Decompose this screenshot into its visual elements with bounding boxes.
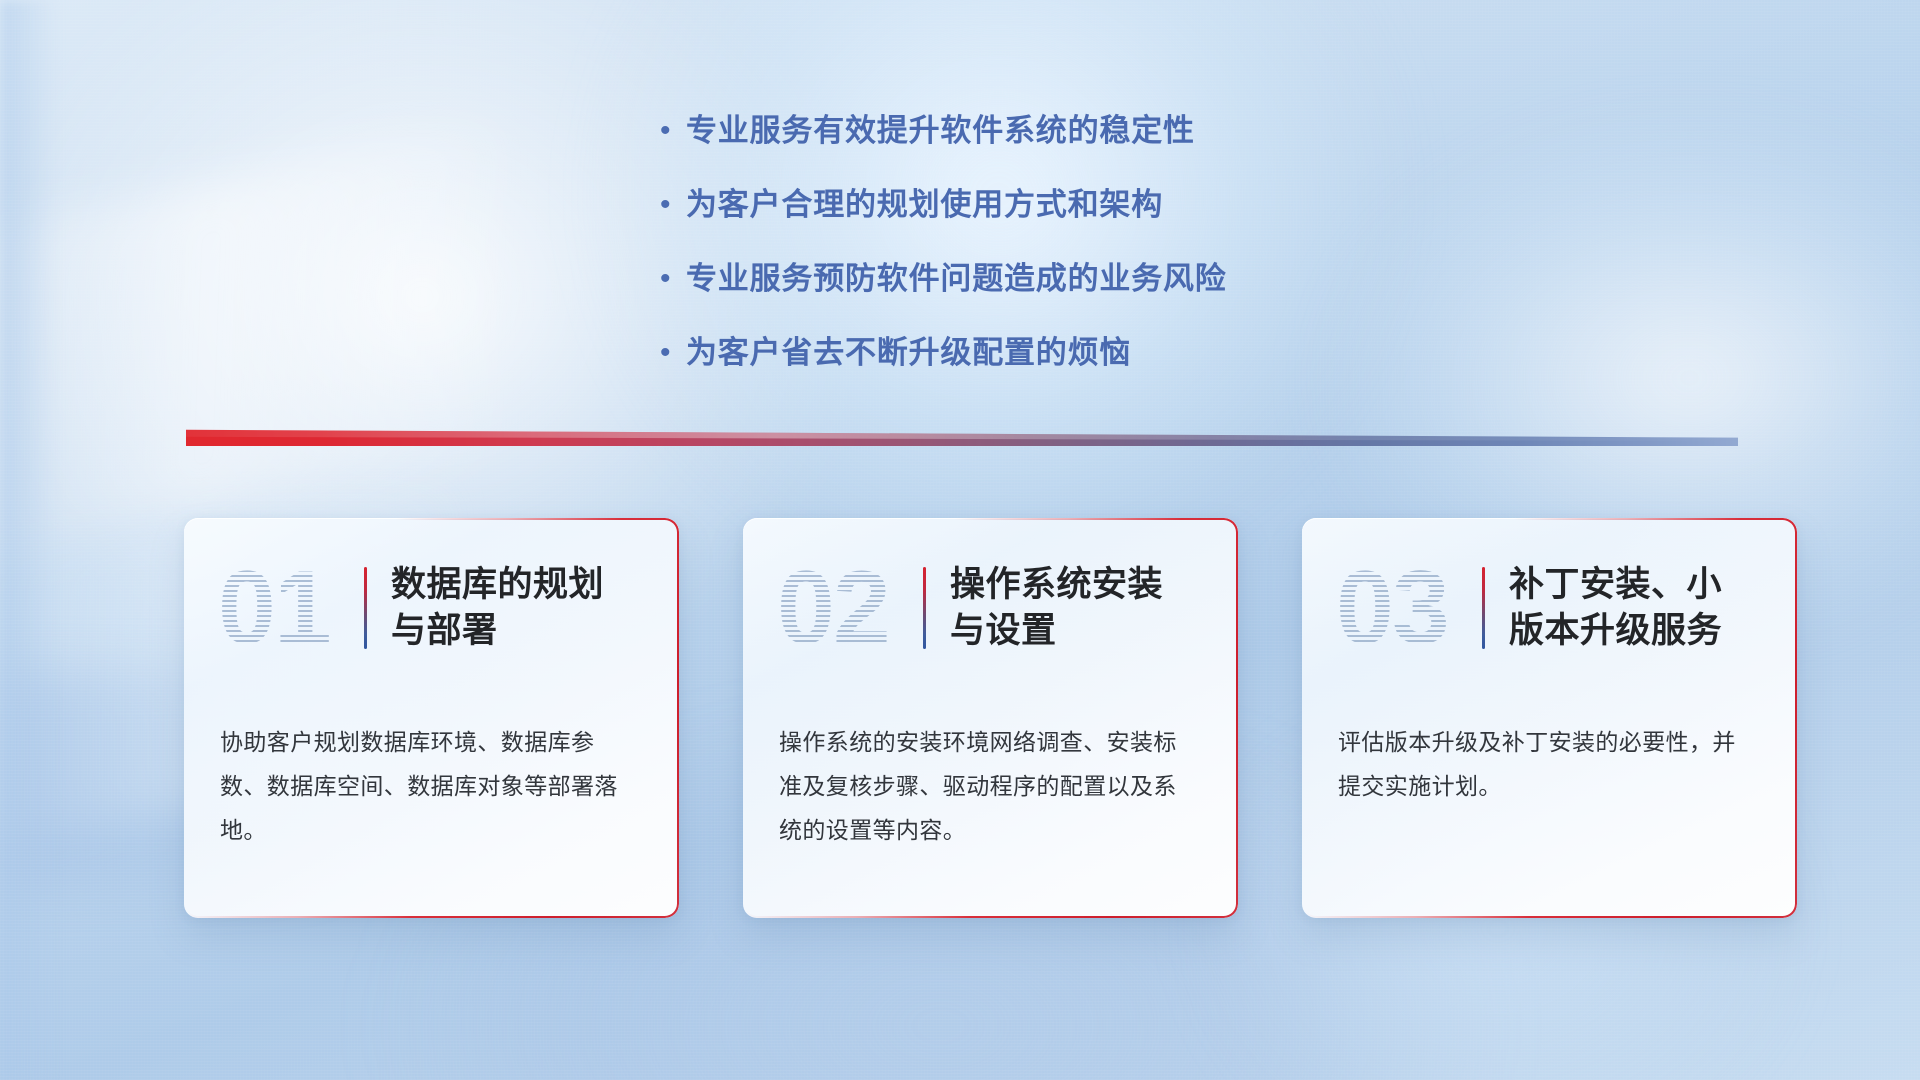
- slide-stage: • 专业服务有效提升软件系统的稳定性 • 为客户合理的规划使用方式和架构 • 专…: [0, 0, 1920, 1080]
- bullet-text: 为客户省去不断升级配置的烦恼: [686, 330, 1131, 376]
- card-number-badge: 03: [1336, 554, 1478, 662]
- card-vertical-divider: [923, 567, 926, 649]
- service-card-02[interactable]: 02 操作系统安装与设置 操作系统的安装环境网络调查、安装标准及复核步骤、驱动程…: [743, 518, 1238, 918]
- card-header: 01 数据库的规划与部署: [184, 518, 679, 664]
- bullet-dot-icon: •: [660, 182, 686, 228]
- card-description: 协助客户规划数据库环境、数据库参数、数据库空间、数据库对象等部署落地。: [184, 664, 679, 852]
- card-content: 02 操作系统安装与设置 操作系统的安装环境网络调查、安装标准及复核步骤、驱动程…: [743, 518, 1238, 918]
- bullet-dot-icon: •: [660, 108, 686, 154]
- card-title: 补丁安装、小版本升级服务: [1509, 562, 1755, 654]
- card-content: 03 补丁安装、小版本升级服务 评估版本升级及补丁安装的必要性，并提交实施计划。: [1302, 518, 1797, 918]
- list-item: • 为客户省去不断升级配置的烦恼: [660, 330, 1420, 376]
- card-header: 03 补丁安装、小版本升级服务: [1302, 518, 1797, 664]
- card-description: 评估版本升级及补丁安装的必要性，并提交实施计划。: [1302, 664, 1797, 808]
- bullet-dot-icon: •: [660, 330, 686, 376]
- bullet-dot-icon: •: [660, 256, 686, 302]
- list-item: • 专业服务有效提升软件系统的稳定性: [660, 108, 1420, 154]
- card-vertical-divider: [364, 567, 367, 649]
- bullet-text: 专业服务预防软件问题造成的业务风险: [686, 256, 1227, 302]
- card-number-badge: 02: [777, 554, 919, 662]
- service-card-03[interactable]: 03 补丁安装、小版本升级服务 评估版本升级及补丁安装的必要性，并提交实施计划。: [1302, 518, 1797, 918]
- list-item: • 专业服务预防软件问题造成的业务风险: [660, 256, 1420, 302]
- list-item: • 为客户合理的规划使用方式和架构: [660, 182, 1420, 228]
- bullet-text: 专业服务有效提升软件系统的稳定性: [686, 108, 1195, 154]
- benefits-bullet-list: • 专业服务有效提升软件系统的稳定性 • 为客户合理的规划使用方式和架构 • 专…: [660, 108, 1420, 404]
- card-vertical-divider: [1482, 567, 1485, 649]
- card-description: 操作系统的安装环境网络调查、安装标准及复核步骤、驱动程序的配置以及系统的设置等内…: [743, 664, 1238, 852]
- section-divider: [186, 424, 1738, 446]
- card-number-badge: 01: [218, 554, 360, 662]
- card-title: 数据库的规划与部署: [391, 562, 637, 654]
- bullet-text: 为客户合理的规划使用方式和架构: [686, 182, 1163, 228]
- service-card-01[interactable]: 01 数据库的规划与部署 协助客户规划数据库环境、数据库参数、数据库空间、数据库…: [184, 518, 679, 918]
- service-card-row: 01 数据库的规划与部署 协助客户规划数据库环境、数据库参数、数据库空间、数据库…: [184, 518, 1797, 918]
- card-content: 01 数据库的规划与部署 协助客户规划数据库环境、数据库参数、数据库空间、数据库…: [184, 518, 679, 918]
- card-title: 操作系统安装与设置: [950, 562, 1196, 654]
- card-header: 02 操作系统安装与设置: [743, 518, 1238, 664]
- divider-gradient-wedge: [186, 424, 1738, 446]
